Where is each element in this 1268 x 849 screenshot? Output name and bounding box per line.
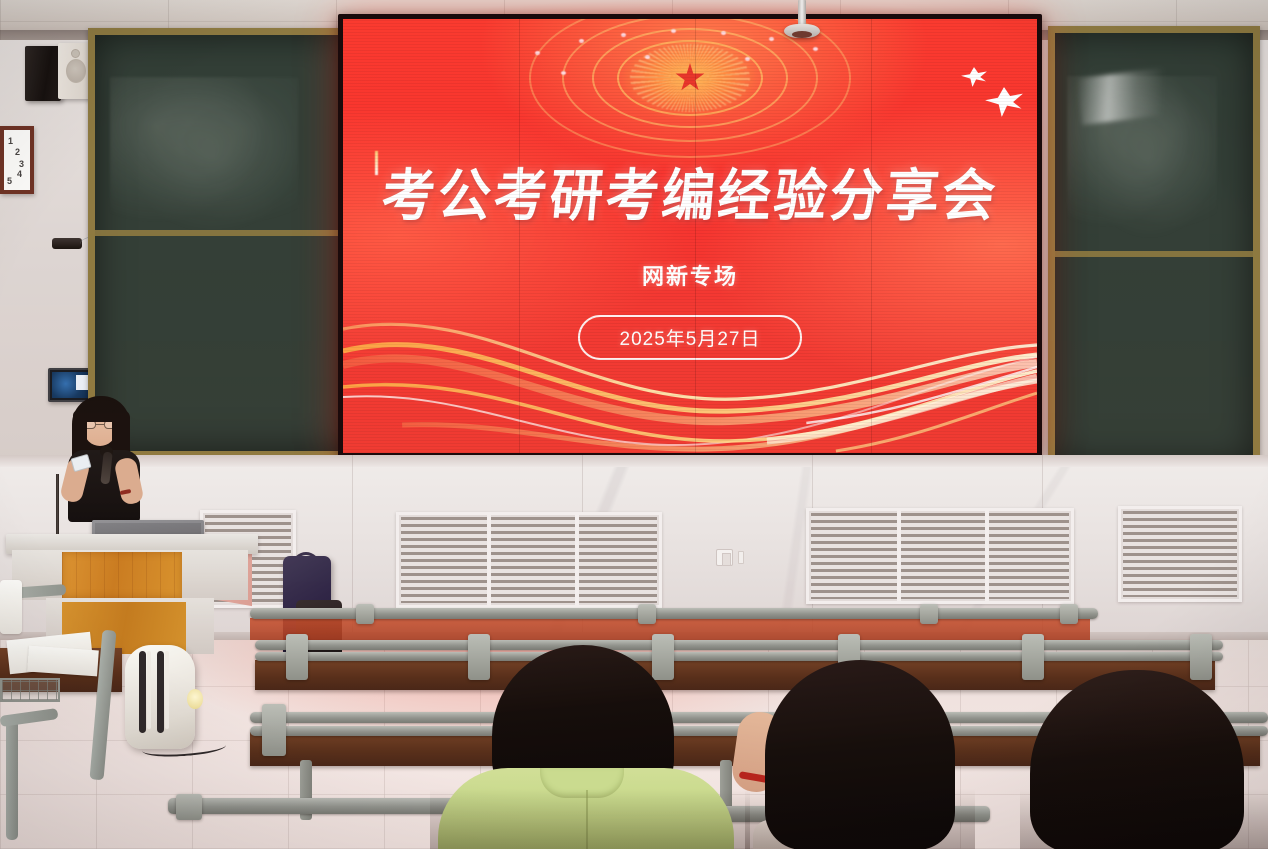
speaker-tweeter <box>71 49 80 58</box>
backpack-strap <box>157 651 164 733</box>
vent-divider <box>897 511 901 601</box>
led-sparkle <box>621 33 626 37</box>
glasses-bridge <box>96 424 104 425</box>
wall-air-vent <box>806 508 1074 604</box>
presentation-title: 考公考研考编经验分享会 <box>343 167 1037 226</box>
audience-member-center <box>745 660 975 849</box>
wall-ledge <box>0 455 1268 467</box>
rail-bracket <box>356 604 374 624</box>
clock-numeral-5: 5 <box>7 176 12 186</box>
led-display-frame: 考公考研考编经验分享会 网新专场 2025年5月27日 <box>338 14 1042 458</box>
audience-shadow <box>430 789 750 849</box>
clock-numeral-2: 2 <box>15 147 20 157</box>
clock-numeral-1: 1 <box>8 136 13 146</box>
led-sparkle <box>579 39 584 43</box>
led-panel-seam <box>695 19 696 453</box>
wall-clock: 1 2 3 4 5 <box>0 126 34 194</box>
clock-numeral-4: 4 <box>17 169 22 179</box>
sprinkler-rod <box>798 0 806 26</box>
chalkboard-divider <box>1055 251 1253 257</box>
rail-bracket <box>176 794 202 820</box>
led-sparkle <box>769 37 774 41</box>
lecture-hall-photo: 1 2 3 4 5 <box>0 0 1268 849</box>
rail-bracket <box>920 604 938 624</box>
sprinkler-lens <box>792 31 812 38</box>
wire-basket <box>0 678 60 702</box>
led-sparkle <box>745 57 750 61</box>
vent-slats <box>401 517 657 603</box>
rail-bracket <box>638 604 656 624</box>
audience-shadow <box>745 789 975 849</box>
wall-air-vent <box>396 512 662 608</box>
led-panel-seam <box>871 19 872 453</box>
backpack-strap <box>139 651 146 733</box>
chalk-residue <box>110 77 298 252</box>
red-star-emblem <box>525 19 855 163</box>
rail-bracket <box>1060 604 1078 624</box>
audience-member-green-shirt <box>430 640 750 849</box>
vent-divider <box>487 515 491 605</box>
chair-frame <box>6 720 18 840</box>
speaker-cone <box>66 59 86 83</box>
ribbon-svg <box>343 293 1037 453</box>
chalkboard-divider <box>95 230 343 236</box>
gold-ribbon-decoration <box>343 293 1037 453</box>
clock-numeral-3: 3 <box>19 159 24 169</box>
dove-icon <box>985 87 1023 117</box>
wall-switch-small[interactable] <box>738 551 744 564</box>
speaker-black-icon <box>25 46 61 101</box>
wall-switch-plate[interactable] <box>716 549 733 566</box>
led-sparkle <box>671 29 676 33</box>
audience-shadow <box>1020 789 1268 849</box>
led-sparkle <box>721 31 726 35</box>
lectern <box>6 512 268 642</box>
rail-bracket <box>286 634 308 680</box>
lectern-wood-front <box>62 552 182 598</box>
backpack-strap-line <box>147 651 151 729</box>
white-backpack <box>125 645 195 749</box>
papers <box>27 646 99 677</box>
led-sparkle <box>813 47 818 51</box>
dove-icon <box>961 67 987 87</box>
wall-air-vent <box>1118 506 1242 602</box>
chalkboard-right <box>1048 26 1260 470</box>
led-sparkle <box>535 51 540 55</box>
led-sparkle <box>561 71 566 75</box>
bottle <box>0 580 22 634</box>
backpack-strap-line <box>165 651 169 729</box>
desk-rail <box>250 608 1098 619</box>
vent-divider <box>575 515 579 605</box>
ir-sensor-icon <box>52 238 82 249</box>
led-sparkle <box>645 55 650 59</box>
vent-slats <box>811 513 1069 599</box>
presentation-subtitle: 网新专场 <box>343 259 1037 291</box>
vent-divider <box>985 511 989 601</box>
vent-slats <box>1123 511 1237 597</box>
backpack-charm <box>187 689 203 709</box>
audience-member-right <box>1020 670 1268 849</box>
presenter <box>62 392 154 522</box>
led-panel-seam <box>519 19 520 453</box>
led-display: 考公考研考编经验分享会 网新专场 2025年5月27日 <box>343 19 1037 453</box>
rail-bracket <box>262 704 286 756</box>
